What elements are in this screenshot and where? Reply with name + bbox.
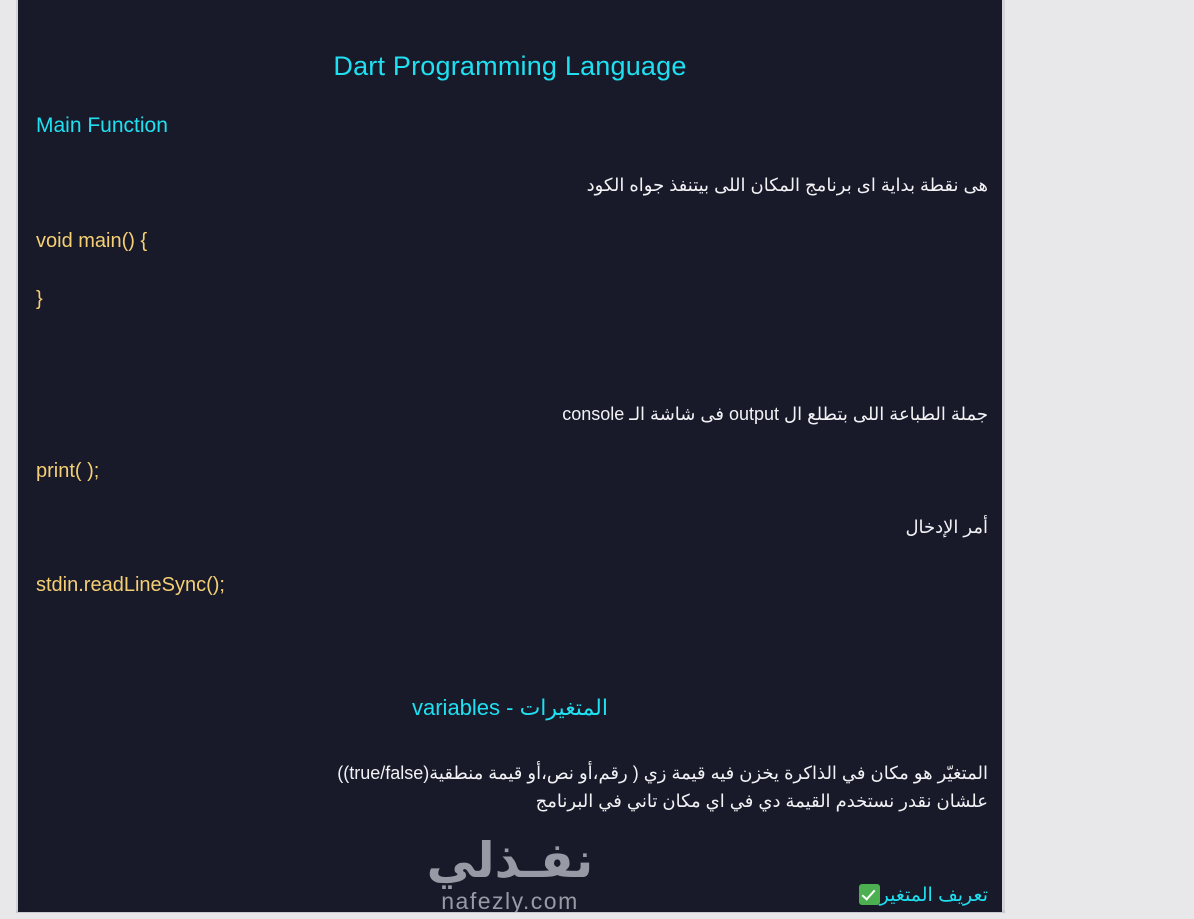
document-page: Dart Programming Language Main Function … (18, 0, 1002, 912)
main-function-description: هى نقطة بداية اى برنامج المكان اللى بيتن… (587, 172, 988, 198)
variables-paragraph-line-1: المتغيّر هو مكان في الذاكرة يخزن فيه قيم… (248, 760, 988, 788)
variables-subheading: تعريف المتغير (855, 884, 988, 909)
code-line-void-main-open: void main() { (36, 229, 147, 254)
check-mark-green-icon (859, 884, 880, 905)
screenshot-viewport: Dart Programming Language Main Function … (0, 0, 1194, 919)
variables-paragraph: المتغيّر هو مكان في الذاكرة يخزن فيه قيم… (248, 760, 988, 816)
document-title: Dart Programming Language (18, 50, 1002, 82)
code-line-print: print( ); (36, 459, 99, 484)
variables-subheading-label: تعريف المتغير (880, 885, 988, 906)
section-heading-main-function: Main Function (36, 113, 168, 138)
code-line-stdin-readlinesync: stdin.readLineSync(); (36, 573, 225, 598)
section-heading-variables: المتغيرات - variables (18, 695, 1002, 721)
variables-paragraph-line-2: علشان نقدر نستخدم القيمة دي في اي مكان ت… (248, 788, 988, 816)
code-line-void-main-close: } (36, 287, 43, 312)
print-description: جملة الطباعة اللى بتطلع ال output فى شاش… (562, 401, 988, 427)
document-page-content: Dart Programming Language Main Function … (18, 0, 1002, 912)
watermark-arabic-logo: نفـذلي (18, 836, 1002, 887)
input-description: أمر الإدخال (905, 514, 988, 540)
page-right-edge (1002, 0, 1005, 912)
